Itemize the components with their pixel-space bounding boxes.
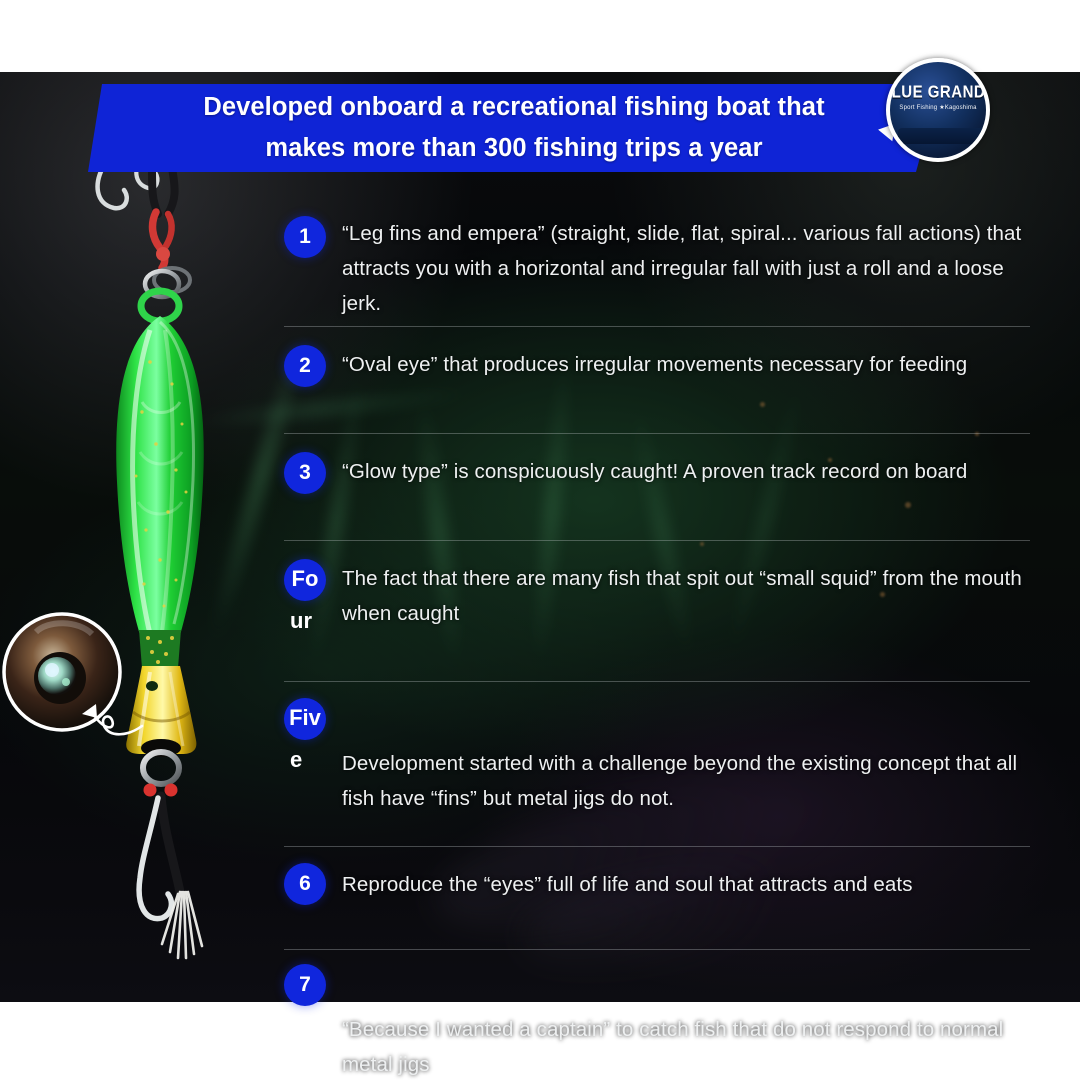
feature-row: 1 “Leg fins and empera” (straight, slide… xyxy=(284,198,1030,327)
feature-text: “Oval eye” that produces irregular movem… xyxy=(342,347,1030,382)
feature-number-badge-label: Fiv xyxy=(289,698,321,738)
split-rings xyxy=(141,268,190,321)
feature-number-badge: 1 xyxy=(284,216,326,258)
product-photo-lure xyxy=(0,72,280,1002)
feature-number-badge: Fo ur xyxy=(284,559,326,601)
feature-row: 6 Reproduce the “eyes” full of life and … xyxy=(284,847,1030,950)
feature-number-badge: 7 xyxy=(284,964,326,1006)
jig-head xyxy=(126,666,196,757)
brand-logo-badge: BLUE GRANDE Sport Fishing ★Kagoshima xyxy=(886,58,990,162)
feature-row: Fo ur The fact that there are many fish … xyxy=(284,541,1030,682)
feature-number-badge: 2 xyxy=(284,345,326,387)
jig-body xyxy=(116,316,204,668)
feature-row: 2 “Oval eye” that produces irregular mov… xyxy=(284,327,1030,434)
lower-assist-hook xyxy=(139,752,202,958)
feature-row: Fiv e Development started with a challen… xyxy=(284,682,1030,847)
feature-text: “Glow type” is conspicuously caught! A p… xyxy=(342,454,1030,489)
feature-number-badge: 3 xyxy=(284,452,326,494)
feature-row: 3 “Glow type” is conspicuously caught! A… xyxy=(284,434,1030,541)
feature-number-badge-overflow: e xyxy=(290,740,302,780)
logo-banner-shelf xyxy=(898,128,986,144)
feature-text: Development started with a challenge bey… xyxy=(342,746,1030,816)
feature-text: The fact that there are many fish that s… xyxy=(342,561,1030,631)
feature-number-badge: Fiv e xyxy=(284,698,326,740)
feature-number-badge-label: Fo xyxy=(292,559,319,599)
eye-magnifier-callout xyxy=(4,614,142,734)
headline-banner xyxy=(88,84,940,172)
lure-illustration xyxy=(0,72,280,1002)
feature-text: “Leg fins and empera” (straight, slide, … xyxy=(342,216,1030,321)
brand-name: BLUE GRANDE xyxy=(886,83,990,103)
infographic-page: Developed onboard a recreational fishing… xyxy=(0,0,1080,1080)
feature-text: Reproduce the “eyes” full of life and so… xyxy=(342,867,1030,902)
feature-number-badge: 6 xyxy=(284,863,326,905)
feature-list: 1 “Leg fins and empera” (straight, slide… xyxy=(284,198,1030,1080)
feature-row: 7 “Because I wanted a captain” to catch … xyxy=(284,950,1030,1080)
brand-tagline: Sport Fishing ★Kagoshima xyxy=(899,104,976,111)
feature-number-badge-overflow: ur xyxy=(290,601,312,641)
feature-text: “Because I wanted a captain” to catch fi… xyxy=(342,1012,1030,1080)
